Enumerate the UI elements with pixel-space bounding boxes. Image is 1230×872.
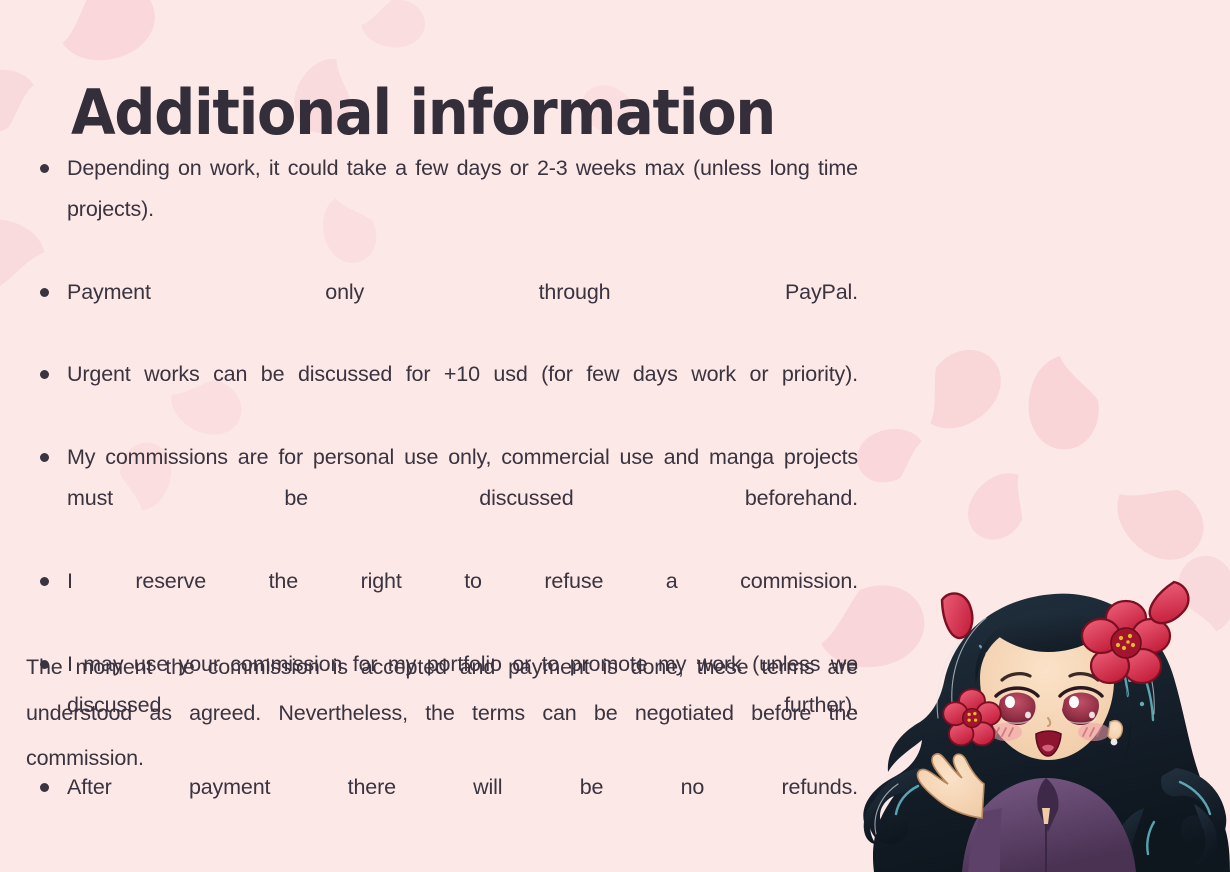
list-item-text: Urgent works can be discussed for +10 us… <box>67 362 858 386</box>
hair-back-icon <box>863 594 1230 872</box>
hand-icon <box>917 754 984 818</box>
list-item: Urgent works can be discussed for +10 us… <box>26 354 858 437</box>
closing-paragraph: The moment the commission is accepted an… <box>26 645 858 827</box>
list-item: Payment only through PayPal. <box>26 272 858 355</box>
page-title: Additional information <box>30 80 817 145</box>
flower-icon <box>934 577 1194 745</box>
list-item-text: I reserve the right to refuse a commissi… <box>67 569 858 593</box>
chibi-girl-illustration <box>858 572 1230 872</box>
list-item-text: My commissions are for personal use only… <box>67 445 858 510</box>
closing-paragraph-text: The moment the commission is accepted an… <box>26 655 858 770</box>
list-item: Depending on work, it could take a few d… <box>26 148 858 272</box>
list-item: My commissions are for personal use only… <box>26 437 858 561</box>
purple-robe-icon <box>962 778 1136 872</box>
list-item: I reserve the right to refuse a commissi… <box>26 561 858 644</box>
slide-canvas: Additional information Depending on work… <box>0 0 1230 872</box>
face-icon <box>970 610 1132 762</box>
list-item-text: Depending on work, it could take a few d… <box>67 156 858 221</box>
list-item-text: Payment only through PayPal. <box>67 280 858 304</box>
